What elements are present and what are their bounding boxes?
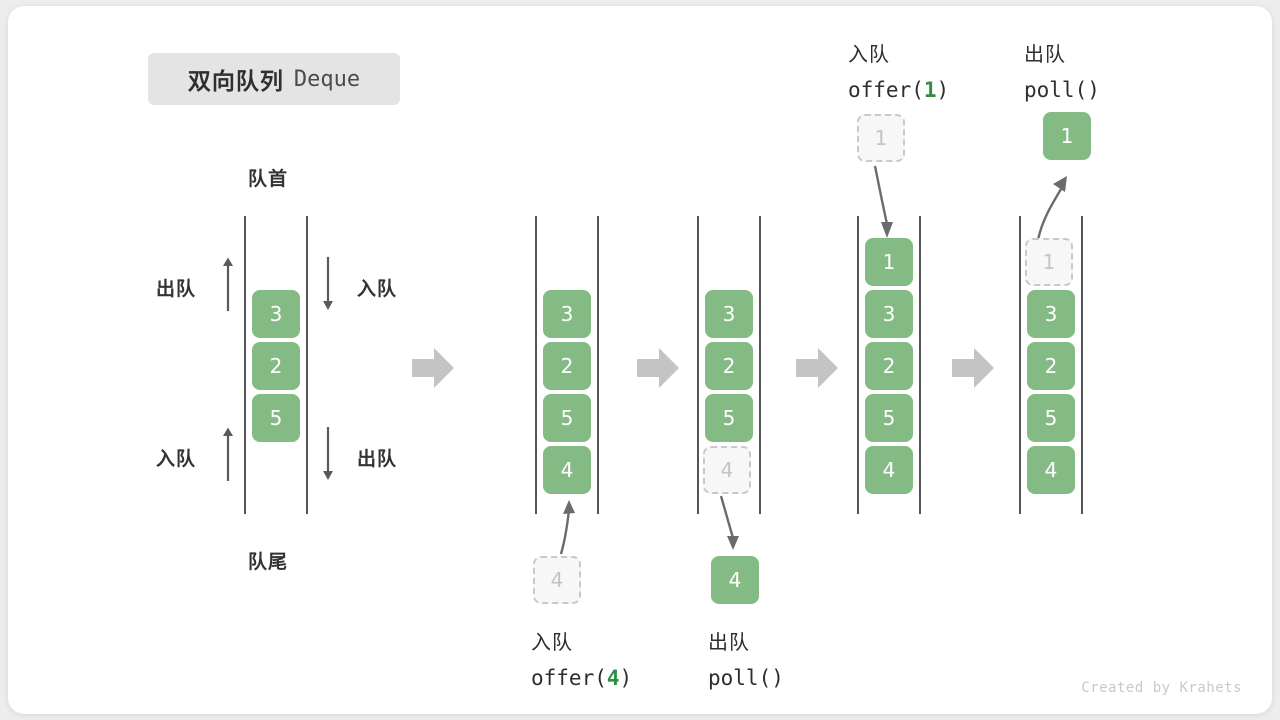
caption-offer-4: 入队 offer(4) xyxy=(531,624,632,696)
floating-cell: 4 xyxy=(711,556,759,604)
title-english: Deque xyxy=(294,67,360,92)
queue-rail-s1-0 xyxy=(535,216,537,514)
floating-ghost-cell: 4 xyxy=(533,556,581,604)
queue-cell: 2 xyxy=(543,342,591,390)
caption-cn: 入队 xyxy=(531,624,632,660)
queue-rail-s4-0 xyxy=(1019,216,1021,514)
queue-rail-s3-1 xyxy=(919,216,921,514)
queue-cell: 5 xyxy=(865,394,913,442)
diagram-card: 双向队列 Deque 队首 队尾 3 2 5 出队 入队 入队 出队 xyxy=(8,6,1272,714)
queue-cell: 3 xyxy=(705,290,753,338)
tail-label: 队尾 xyxy=(248,547,288,574)
caption-code: poll() xyxy=(708,660,784,696)
arrow-up-dequeue-head xyxy=(214,256,242,312)
left-bottom-dequeue-label: 出队 xyxy=(357,444,397,471)
caption-code: offer(1) xyxy=(848,72,949,108)
floating-cell: 1 xyxy=(1043,112,1091,160)
arrow-down-enqueue-head xyxy=(314,256,342,312)
left-bottom-enqueue-label: 入队 xyxy=(156,444,196,471)
head-label: 队首 xyxy=(248,164,288,191)
code-suffix: ) xyxy=(1087,78,1100,102)
queue-cell: 4 xyxy=(543,446,591,494)
queue-cell: 3 xyxy=(1027,290,1075,338)
caption-cn: 入队 xyxy=(848,36,949,72)
caption-cn: 出队 xyxy=(708,624,784,660)
arrow-remove-head xyxy=(1020,162,1080,242)
queue-cell: 5 xyxy=(705,394,753,442)
queue-cell: 4 xyxy=(1027,446,1075,494)
caption-code: offer(4) xyxy=(531,660,632,696)
queue-cell: 2 xyxy=(705,342,753,390)
caption-code: poll() xyxy=(1024,72,1100,108)
code-prefix: offer( xyxy=(531,666,607,690)
queue-rail-left-0 xyxy=(244,216,246,514)
queue-cell: 5 xyxy=(252,394,300,442)
queue-rail-s2-1 xyxy=(759,216,761,514)
caption-poll-head: 出队 poll() xyxy=(1024,36,1100,108)
diagram-title: 双向队列 Deque xyxy=(148,53,400,105)
queue-rail-s2-0 xyxy=(697,216,699,514)
queue-cell: 4 xyxy=(865,446,913,494)
queue-cell: 3 xyxy=(865,290,913,338)
arrow-insert-tail xyxy=(543,494,593,556)
code-suffix: ) xyxy=(937,78,950,102)
caption-poll-tail: 出队 poll() xyxy=(708,624,784,696)
step-arrow-icon xyxy=(637,346,679,390)
step-arrow-icon xyxy=(796,346,838,390)
arrow-remove-tail xyxy=(703,494,753,556)
queue-cell: 2 xyxy=(1027,342,1075,390)
arrow-up-enqueue-tail xyxy=(214,426,242,482)
queue-cell: 2 xyxy=(865,342,913,390)
queue-rail-s4-1 xyxy=(1081,216,1083,514)
arrow-insert-head xyxy=(853,164,903,244)
queue-cell-ghost: 4 xyxy=(703,446,751,494)
code-arg: 4 xyxy=(607,666,620,690)
step-arrow-icon xyxy=(952,346,994,390)
queue-cell: 2 xyxy=(252,342,300,390)
caption-offer-1: 入队 offer(1) xyxy=(848,36,949,108)
code-prefix: poll( xyxy=(1024,78,1087,102)
caption-cn: 出队 xyxy=(1024,36,1100,72)
queue-cell: 5 xyxy=(1027,394,1075,442)
code-suffix: ) xyxy=(620,666,633,690)
left-top-dequeue-label: 出队 xyxy=(156,274,196,301)
arrow-down-dequeue-tail xyxy=(314,426,342,482)
credit-text: Created by Krahets xyxy=(1081,680,1242,696)
code-prefix: offer( xyxy=(848,78,924,102)
queue-cell: 3 xyxy=(252,290,300,338)
queue-rail-left-1 xyxy=(306,216,308,514)
left-top-enqueue-label: 入队 xyxy=(357,274,397,301)
queue-rail-s1-1 xyxy=(597,216,599,514)
floating-ghost-cell: 1 xyxy=(857,114,905,162)
queue-rail-s3-0 xyxy=(857,216,859,514)
queue-cell: 3 xyxy=(543,290,591,338)
code-arg: 1 xyxy=(924,78,937,102)
queue-cell: 5 xyxy=(543,394,591,442)
code-prefix: poll( xyxy=(708,666,771,690)
queue-cell: 1 xyxy=(865,238,913,286)
queue-cell-ghost: 1 xyxy=(1025,238,1073,286)
title-chinese: 双向队列 xyxy=(188,62,284,96)
step-arrow-icon xyxy=(412,346,454,390)
code-suffix: ) xyxy=(771,666,784,690)
